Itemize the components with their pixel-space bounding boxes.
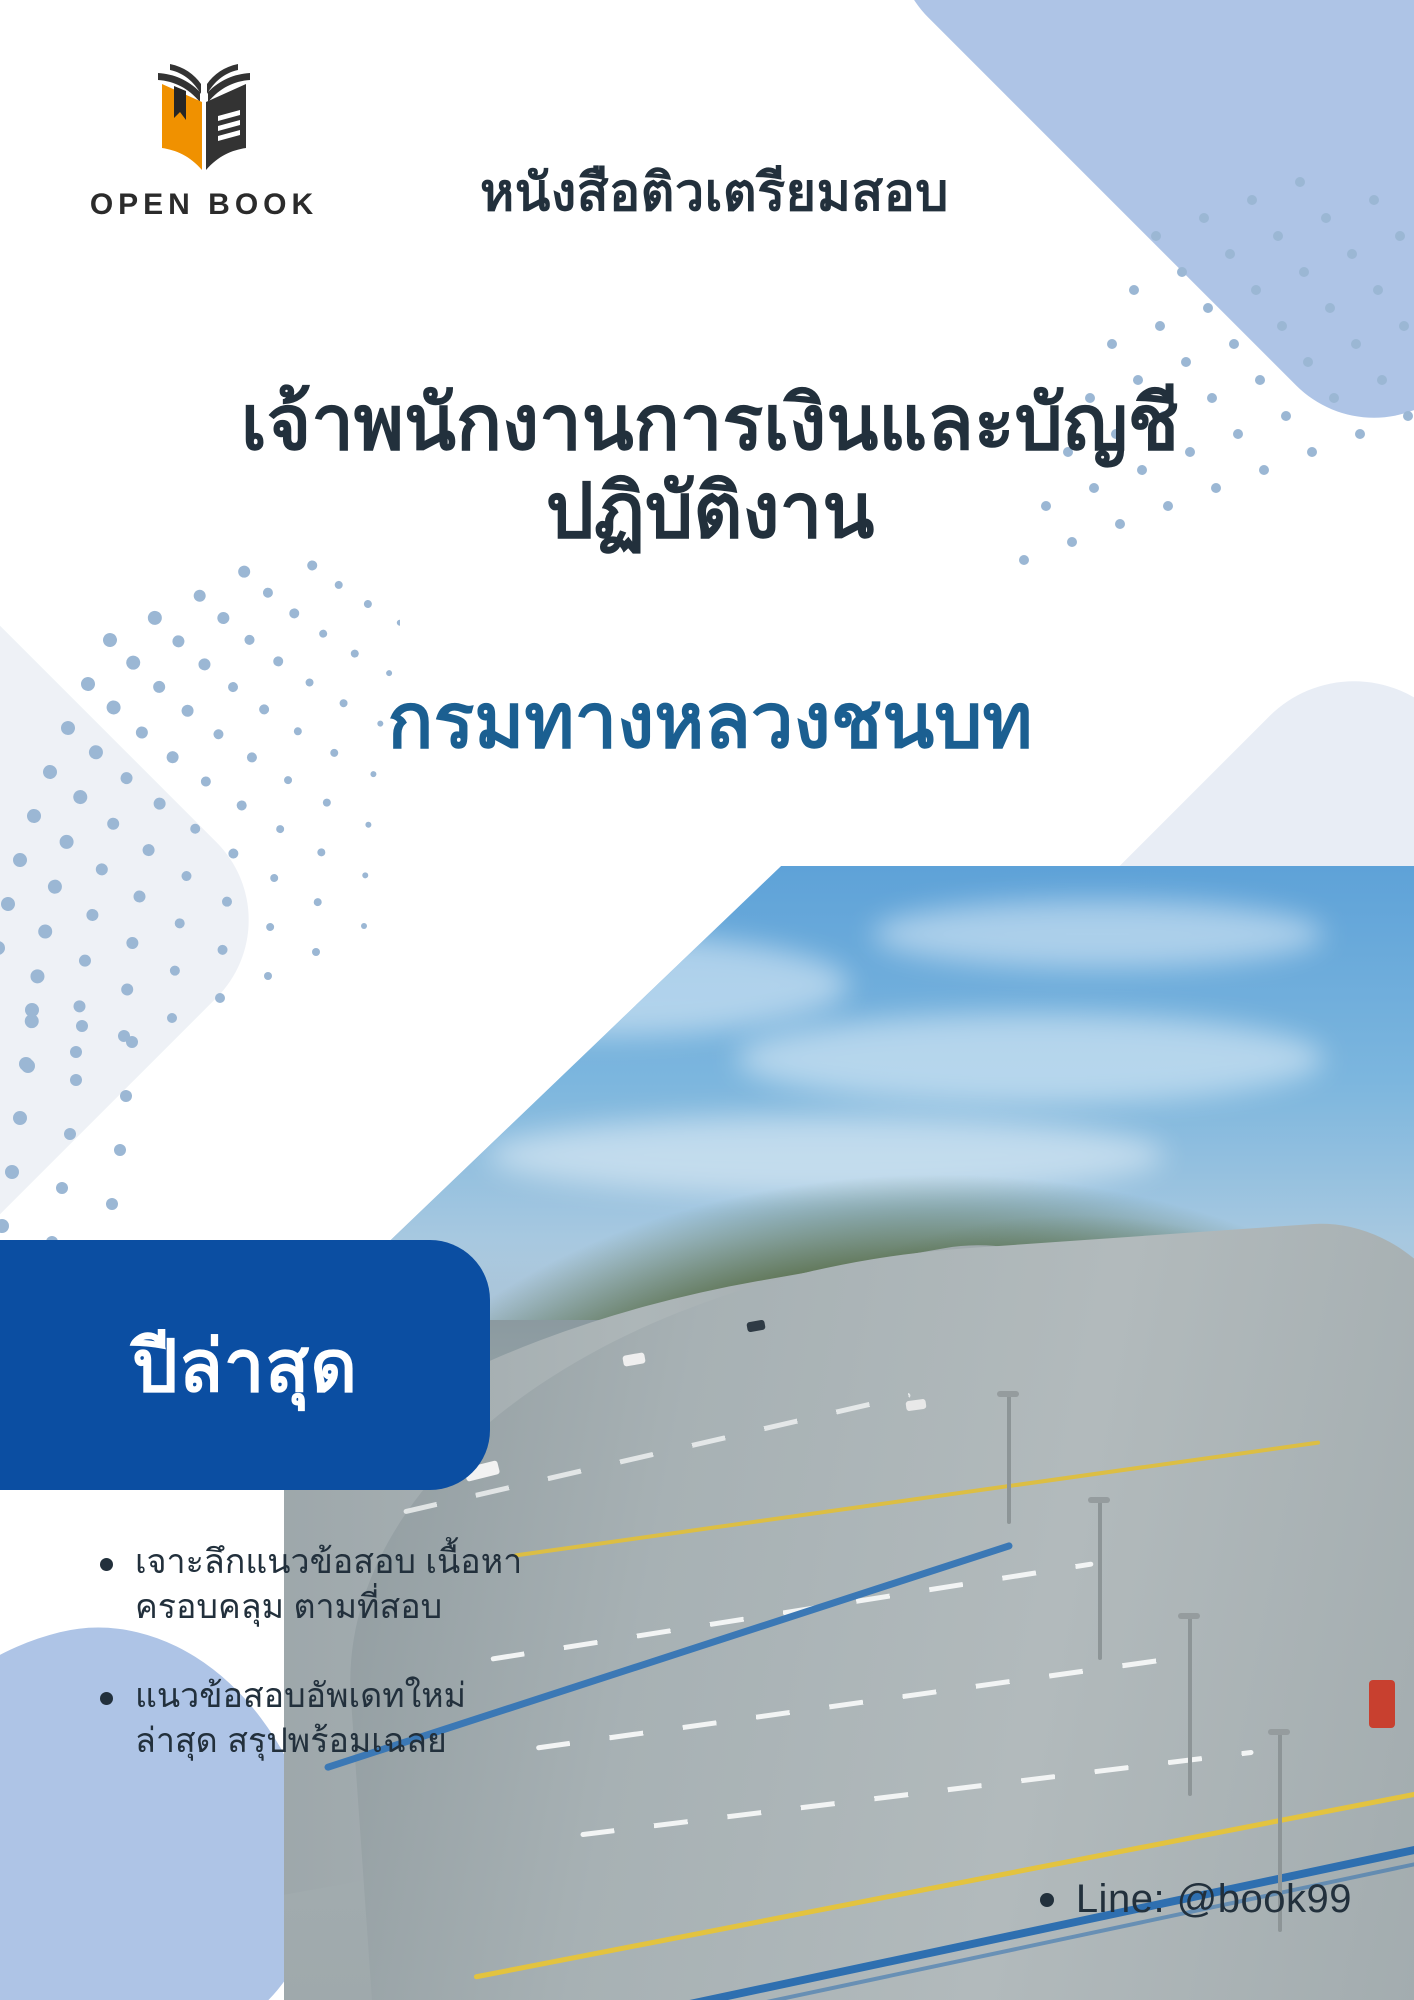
page-title-line1: เจ้าพนักงานการเงินและบัญชี [60, 380, 1360, 468]
feature-text: แนวข้อสอบอัพเดทใหม่ ล่าสุด สรุปพร้อมเฉลย [135, 1674, 540, 1764]
bullet-icon [1040, 1893, 1054, 1907]
kicker-text: หนังสือติวเตรียมสอบ [480, 150, 949, 233]
brand-logo: OPEN BOOK [74, 58, 334, 222]
bullet-icon [100, 1558, 113, 1571]
feature-text: เจาะลึกแนวข้อสอบ เนื้อหาครอบคลุม ตามที่ส… [135, 1540, 540, 1630]
open-book-icon [144, 58, 264, 178]
contact-line[interactable]: Line: @book99 [1040, 1877, 1352, 1922]
decor-shape-left-pale [0, 496, 294, 1345]
brand-name: OPEN BOOK [74, 188, 334, 222]
bullet-icon [100, 1692, 113, 1705]
page-title-line2: ปฏิบัติงาน [60, 468, 1360, 556]
decor-dots-left-fan [0, 560, 400, 1120]
feature-list: เจาะลึกแนวข้อสอบ เนื้อหาครอบคลุม ตามที่ส… [100, 1540, 540, 1808]
organization-title: กรมทางหลวงชนบท [60, 680, 1360, 764]
book-cover: OPEN BOOK หนังสือติวเตรียมสอบ เจ้าพนักงา… [0, 0, 1414, 2000]
latest-year-badge: ปีล่าสุด [0, 1240, 490, 1490]
latest-year-badge-label: ปีล่าสุด [132, 1308, 358, 1423]
contact-text[interactable]: Line: @book99 [1076, 1877, 1352, 1922]
page-title: เจ้าพนักงานการเงินและบัญชี ปฏิบัติงาน [60, 380, 1360, 556]
list-item: แนวข้อสอบอัพเดทใหม่ ล่าสุด สรุปพร้อมเฉลย [100, 1674, 540, 1764]
list-item: เจาะลึกแนวข้อสอบ เนื้อหาครอบคลุม ตามที่ส… [100, 1540, 540, 1630]
